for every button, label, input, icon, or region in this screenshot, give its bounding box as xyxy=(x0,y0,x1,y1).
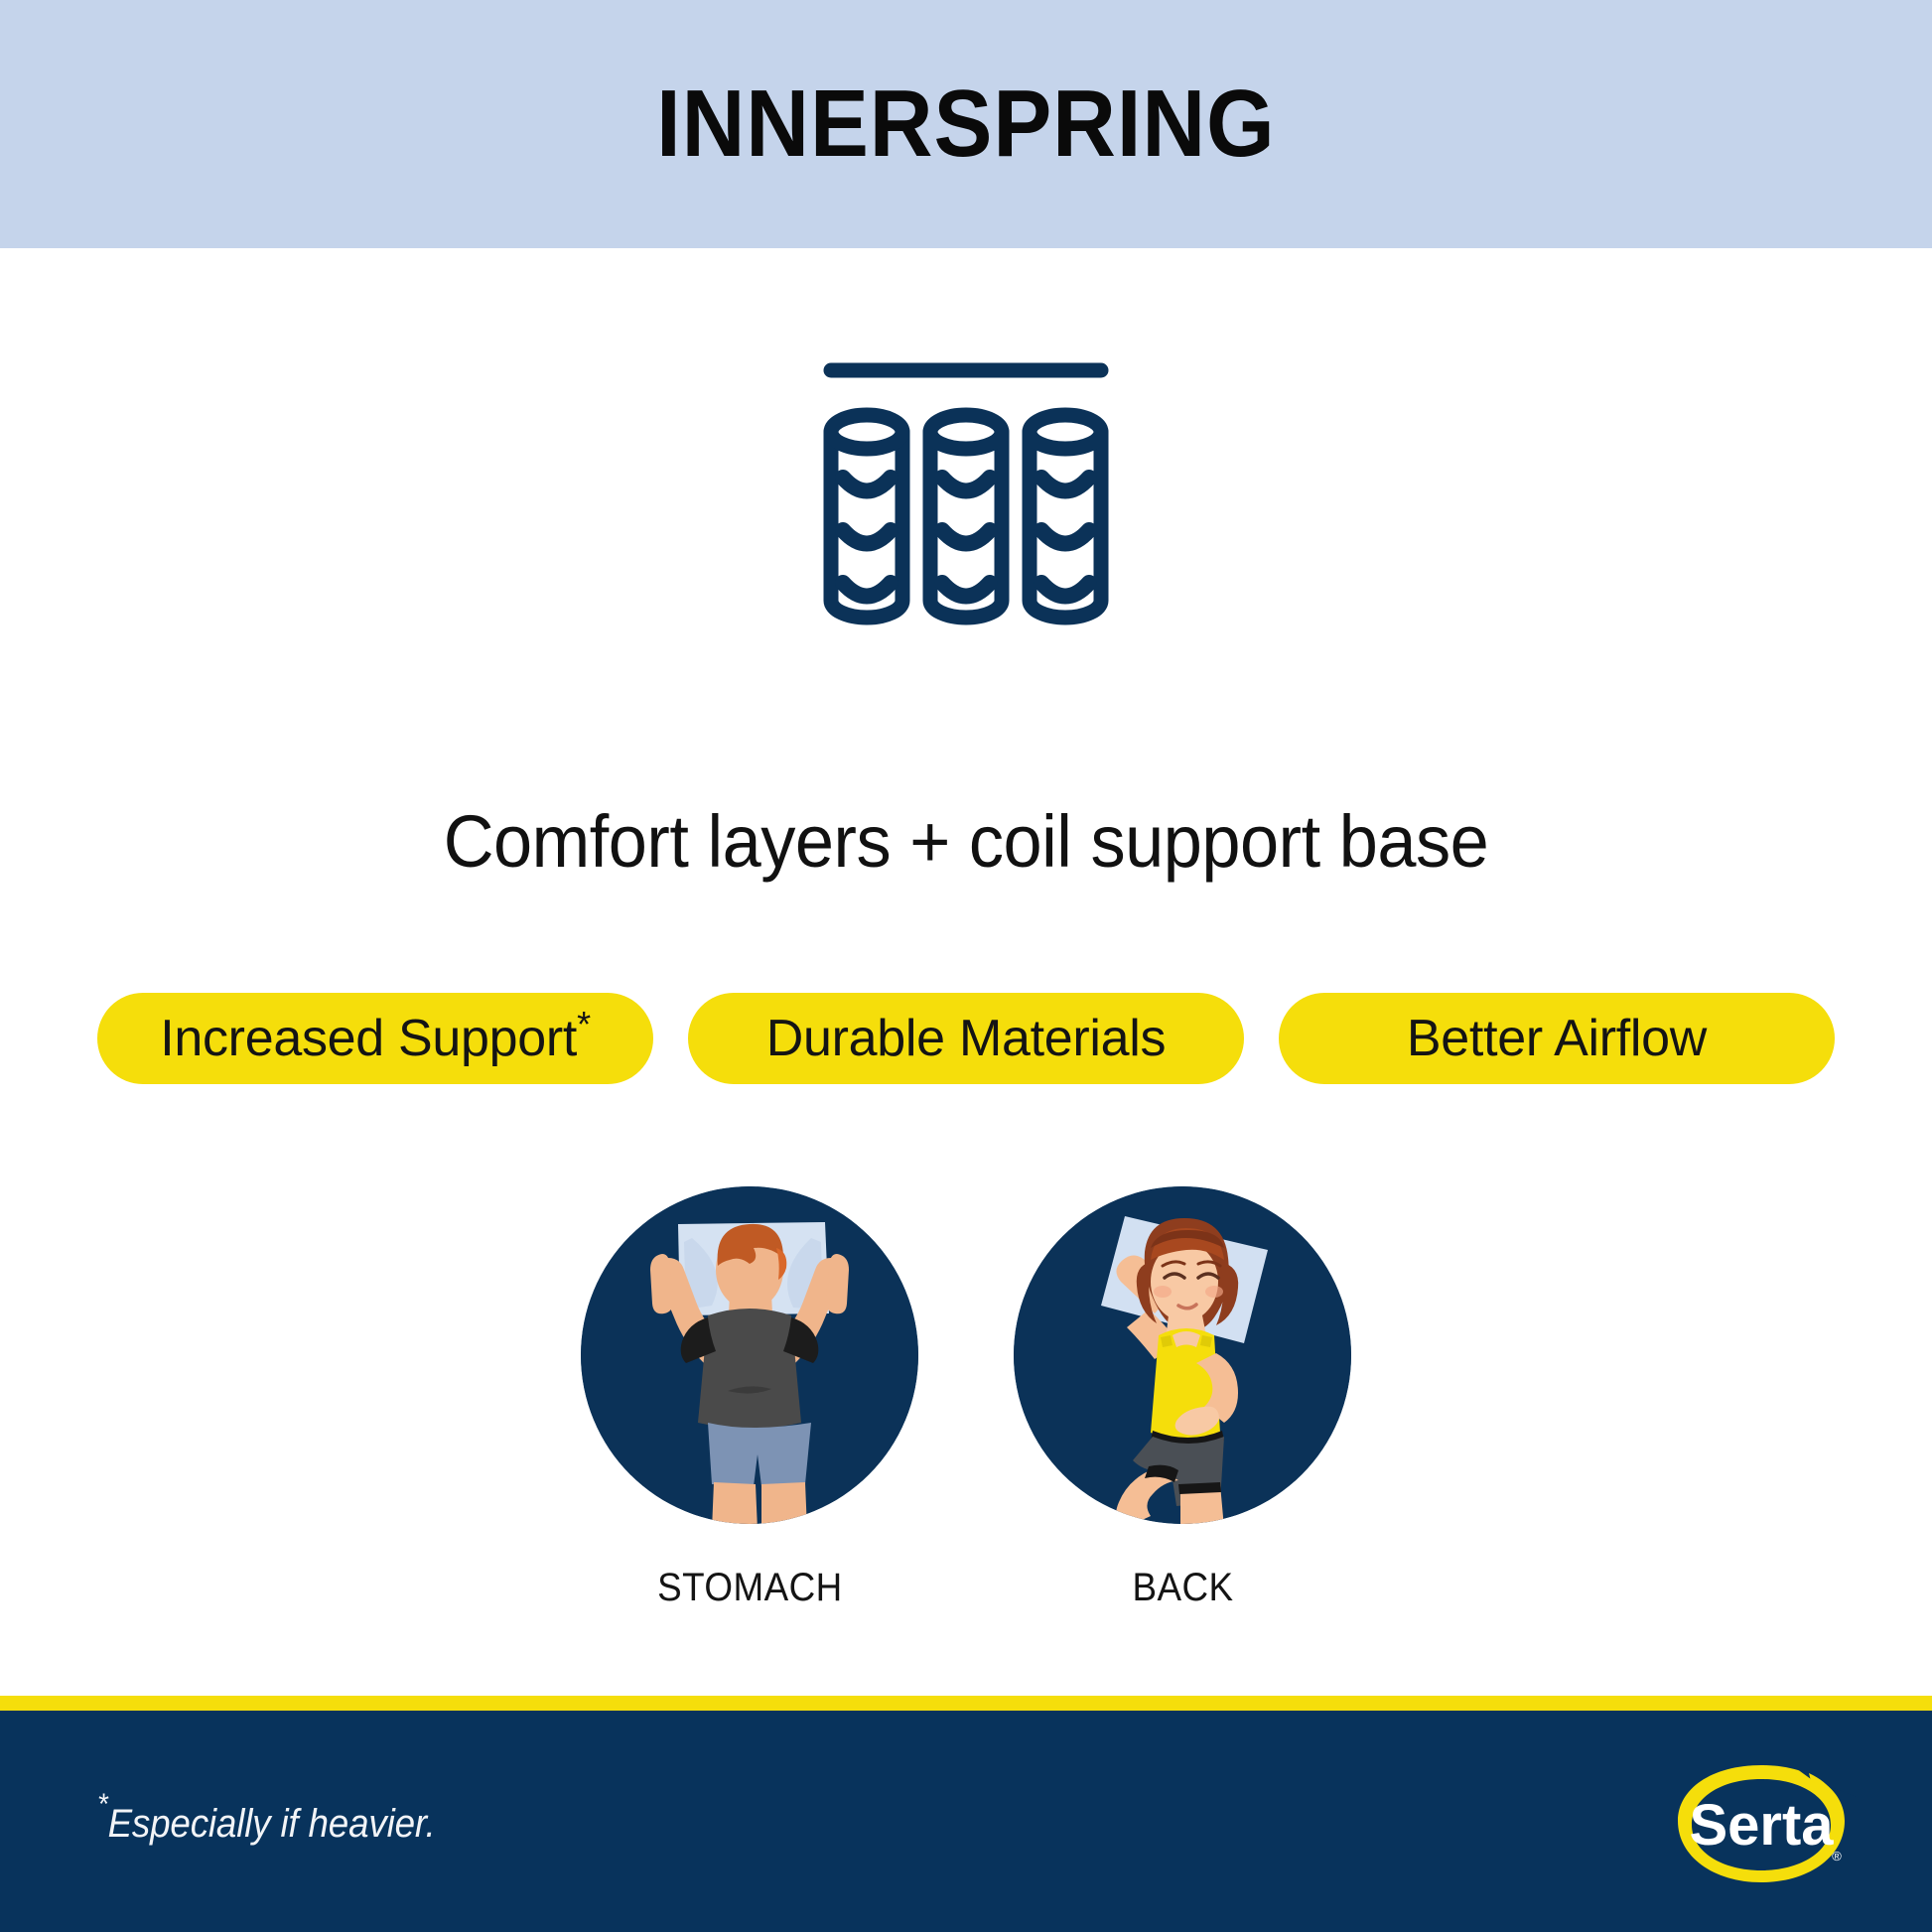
serta-logo[interactable]: Serta ® xyxy=(1662,1757,1861,1896)
footnote-body: Especially if heavier. xyxy=(108,1802,436,1846)
sleep-position-label: BACK xyxy=(1132,1566,1233,1610)
feature-pill-label: Durable Materials xyxy=(766,1009,1166,1068)
footer-accent-stripe xyxy=(0,1696,1932,1711)
sleep-position-label: STOMACH xyxy=(657,1566,843,1610)
serta-wordmark: Serta xyxy=(1689,1793,1834,1858)
page-title: INNERSPRING xyxy=(656,76,1276,172)
innerspring-coils-icon xyxy=(817,357,1115,645)
footnote-marker: * xyxy=(97,1788,108,1821)
sleep-position-stomach[interactable]: STOMACH xyxy=(581,1186,918,1610)
sleep-position-back[interactable]: BACK xyxy=(1014,1186,1351,1610)
stomach-sleeper-avatar xyxy=(581,1186,918,1524)
feature-pill-label: Increased Support xyxy=(160,1009,577,1068)
feature-pill-row: Increased Support* Durable Materials Bet… xyxy=(97,993,1835,1084)
stomach-sleeper-illustration xyxy=(581,1186,918,1524)
footnote-text: *Especially if heavier. xyxy=(97,1802,436,1847)
back-sleeper-avatar xyxy=(1014,1186,1351,1524)
innerspring-infographic: INNERSPRING xyxy=(0,0,1932,1932)
sleep-position-row: STOMACH xyxy=(0,1186,1932,1610)
feature-pill-increased-support[interactable]: Increased Support* xyxy=(97,993,653,1084)
registered-trademark-icon: ® xyxy=(1832,1849,1842,1863)
subtitle: Comfort layers + coil support base xyxy=(49,799,1884,884)
feature-pill-label: Better Airflow xyxy=(1407,1009,1707,1068)
feature-pill-better-airflow[interactable]: Better Airflow xyxy=(1279,993,1835,1084)
hero-illustration xyxy=(0,357,1932,645)
feature-pill-durable-materials[interactable]: Durable Materials xyxy=(688,993,1244,1084)
header-band: INNERSPRING xyxy=(0,0,1932,248)
back-sleeper-illustration xyxy=(1014,1186,1351,1524)
